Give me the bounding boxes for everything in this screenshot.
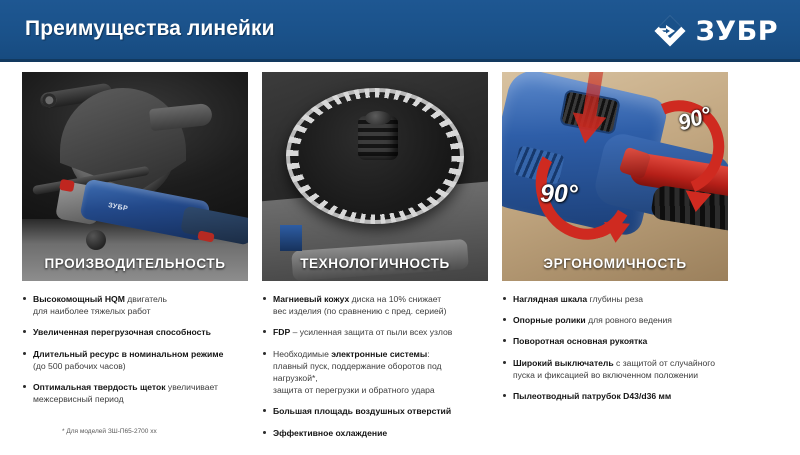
list-item: Пылеотводный патрубок D43/d36 мм [502,390,728,402]
photo-caption: ПРОИЗВОДИТЕЛЬНОСТЬ [22,256,248,271]
list-item: Увеличенная перегрузочная способность [22,326,248,338]
bullet-list-performance: Высокомощный HQM двигатель для наиболее … [22,293,248,405]
bullet-line3-text: защита от перегрузки и обратного удара [273,385,435,395]
bullet-line2-text: вес изделия (по сравнению с пред. серией… [273,306,446,316]
bullet-line2-text: для наиболее тяжелых работ [33,306,151,316]
list-item: Эффективное охлаждение [262,427,488,439]
list-item: Оптимальная твердость щеток увеличивает … [22,381,248,405]
bullet-line2-text: межсервисный период [33,394,124,404]
photo-caption: ТЕХНОЛОГИЧНОСТЬ [262,256,488,271]
bullet-list-technology: Магниевый кожух диска на 10% снижает вес… [262,293,488,439]
bullet-rest-text: – усиленная защита от пыли всех узлов [290,327,452,337]
slide-header: Преимущества линейки ЗУБР [0,0,800,62]
bullet-rest-text: глубины реза [587,294,643,304]
disc-clamp-nut [358,116,398,160]
feature-column-performance: ЗУБР ПРОИЗВОДИТЕЛЬНОСТЬ Высокомощный HQM… [22,72,248,455]
bullet-rest-text: : [427,349,429,359]
bullet-bold-text: Магниевый кожух [273,294,349,304]
bullet-bold-text: Увеличенная перегрузочная способность [33,327,211,337]
bullet-pre-text: Необходимые [273,349,331,359]
bullet-bold-text: Пылеотводный патрубок D43/d36 мм [513,391,671,401]
bullet-bold-text: Широкий выключатель [513,358,614,368]
bullet-bold-text: FDP [273,327,290,337]
list-item: Длительный ресурс в номинальном режиме (… [22,348,248,372]
brand-name: ЗУБР [696,18,778,45]
list-item: Высокомощный HQM двигатель для наиболее … [22,293,248,317]
bullet-rest-text: увеличивает [166,382,218,392]
bullet-bold-text: Высокомощный HQM [33,294,125,304]
list-item: Широкий выключатель с защитой от случайн… [502,357,728,381]
bullet-bold-text: Длительный ресурс в номинальном режиме [33,349,223,359]
bullet-rest-text: для ровного ведения [586,315,672,325]
photo-angle-grinder: ЗУБР ПРОИЗВОДИТЕЛЬНОСТЬ [22,72,248,281]
footnote: * Для моделей ЗШ-П65-2700 хх [62,428,157,435]
feature-column-technology: ТЕХНОЛОГИЧНОСТЬ Магниевый кожух диска на… [262,72,488,455]
bullet-line2-text: пуска и фиксацией во включенном положени… [513,370,698,380]
slide: Преимущества линейки ЗУБР [0,0,800,450]
grinder-roller [86,230,106,250]
list-item: Наглядная шкала глубины реза [502,293,728,305]
photo-ergonomics: 90° 90° ЭРГОНОМИЧНОСТЬ [502,72,728,281]
bullet-line2-text: плавный пуск, поддержание оборотов под н… [273,361,442,383]
feature-columns: ЗУБР ПРОИЗВОДИТЕЛЬНОСТЬ Высокомощный HQM… [0,72,800,455]
bullet-bold-text: Оптимальная твердость щеток [33,382,166,392]
photo-diamond-disc: ТЕХНОЛОГИЧНОСТЬ [262,72,488,281]
bullet-rest-text: с защитой от случайного [614,358,715,368]
list-item: Магниевый кожух диска на 10% снижает вес… [262,293,488,317]
bullet-rest-text: диска на 10% снижает [349,294,441,304]
bullet-list-ergonomics: Наглядная шкала глубины реза Опорные рол… [502,293,728,402]
bullet-bold-text: Большая площадь воздушных отверстий [273,406,451,416]
angle-label-left: 90° [540,180,578,209]
zubr-diamond-arrow-icon [653,14,687,48]
bullet-bold-text: Опорные ролики [513,315,586,325]
list-item: FDP – усиленная защита от пыли всех узло… [262,326,488,338]
bullet-bold-text: Эффективное охлаждение [273,428,387,438]
bullet-bold-text: Наглядная шкала [513,294,587,304]
blue-body-edge [280,225,302,251]
bullet-line2-text: (до 500 рабочих часов) [33,361,126,371]
list-item: Необходимые электронные системы: плавный… [262,348,488,397]
photo-caption: ЭРГОНОМИЧНОСТЬ [502,256,728,271]
grinder-red-lever [59,179,75,192]
page-title: Преимущества линейки [25,17,275,41]
bullet-bold-text: Поворотная основная рукоятка [513,336,647,346]
list-item: Опорные ролики для ровного ведения [502,314,728,326]
brand-logo: ЗУБР [653,14,778,48]
bullet-bold-text: электронные системы [331,349,427,359]
list-item: Поворотная основная рукоятка [502,335,728,347]
feature-column-ergonomics: 90° 90° ЭРГОНОМИЧНОСТЬ Наглядная шкала г… [502,72,728,455]
bullet-rest-text: двигатель [125,294,167,304]
list-item: Большая площадь воздушных отверстий [262,405,488,417]
